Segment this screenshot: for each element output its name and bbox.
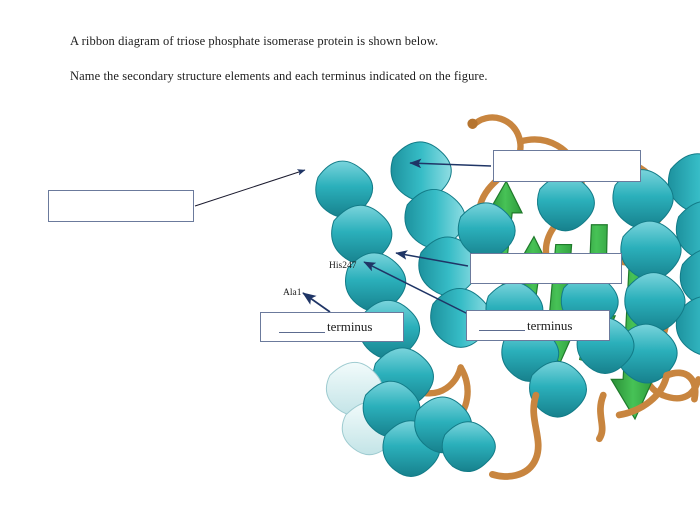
c-terminus-box[interactable]: terminus <box>466 310 610 341</box>
n-terminus-blank[interactable] <box>279 322 325 333</box>
helix-group-center <box>458 175 634 417</box>
answer-box-left[interactable] <box>48 190 194 222</box>
worksheet-page: A ribbon diagram of triose phosphate iso… <box>0 0 700 416</box>
answer-box-mid-right[interactable] <box>470 253 622 284</box>
residue-label-ala1: Ala1 <box>283 288 301 298</box>
question-line-2: Name the secondary structure elements an… <box>70 69 488 84</box>
n-terminus-label: terminus <box>327 319 373 335</box>
n-terminus-box[interactable]: terminus <box>260 312 404 342</box>
protein-ribbon-diagram <box>180 98 430 308</box>
answer-box-top-right[interactable] <box>493 150 641 182</box>
c-terminus-label: terminus <box>527 318 573 334</box>
loop-group-front <box>492 373 695 477</box>
c-terminus-blank[interactable] <box>479 320 525 331</box>
residue-label-his247: His247 <box>329 261 356 271</box>
loop-endpoint-dot <box>467 119 477 129</box>
question-line-1: A ribbon diagram of triose phosphate iso… <box>70 34 438 49</box>
